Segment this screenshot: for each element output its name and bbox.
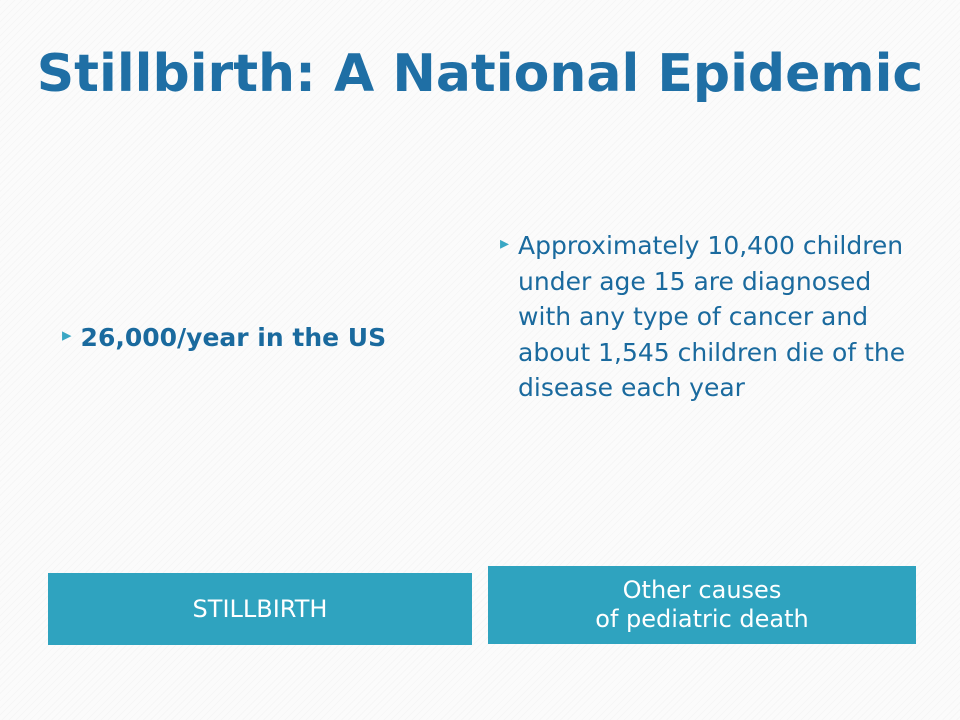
list-item: ▸ Approximately 10,400 children under ag… [500, 228, 920, 406]
left-bullet-block: ▸ 26,000/year in the US [62, 322, 482, 353]
page-title: Stillbirth: A National Epidemic [0, 44, 960, 104]
other-causes-label-text: Other causes of pediatric death [595, 576, 808, 634]
list-item: ▸ 26,000/year in the US [62, 322, 482, 353]
left-bullet-text: 26,000/year in the US [81, 322, 387, 353]
right-bullet-block: ▸ Approximately 10,400 children under ag… [500, 228, 920, 406]
stillbirth-label-text: STILLBIRTH [193, 595, 328, 624]
other-causes-line-2: of pediatric death [595, 605, 808, 634]
stillbirth-label-box: STILLBIRTH [48, 573, 472, 645]
other-causes-label-box: Other causes of pediatric death [488, 566, 916, 644]
right-bullet-text: Approximately 10,400 children under age … [518, 228, 920, 406]
triangle-bullet-icon: ▸ [500, 228, 509, 256]
other-causes-line-1: Other causes [623, 576, 782, 604]
triangle-bullet-icon: ▸ [62, 322, 72, 348]
slide: Stillbirth: A National Epidemic ▸ 26,000… [0, 0, 960, 720]
